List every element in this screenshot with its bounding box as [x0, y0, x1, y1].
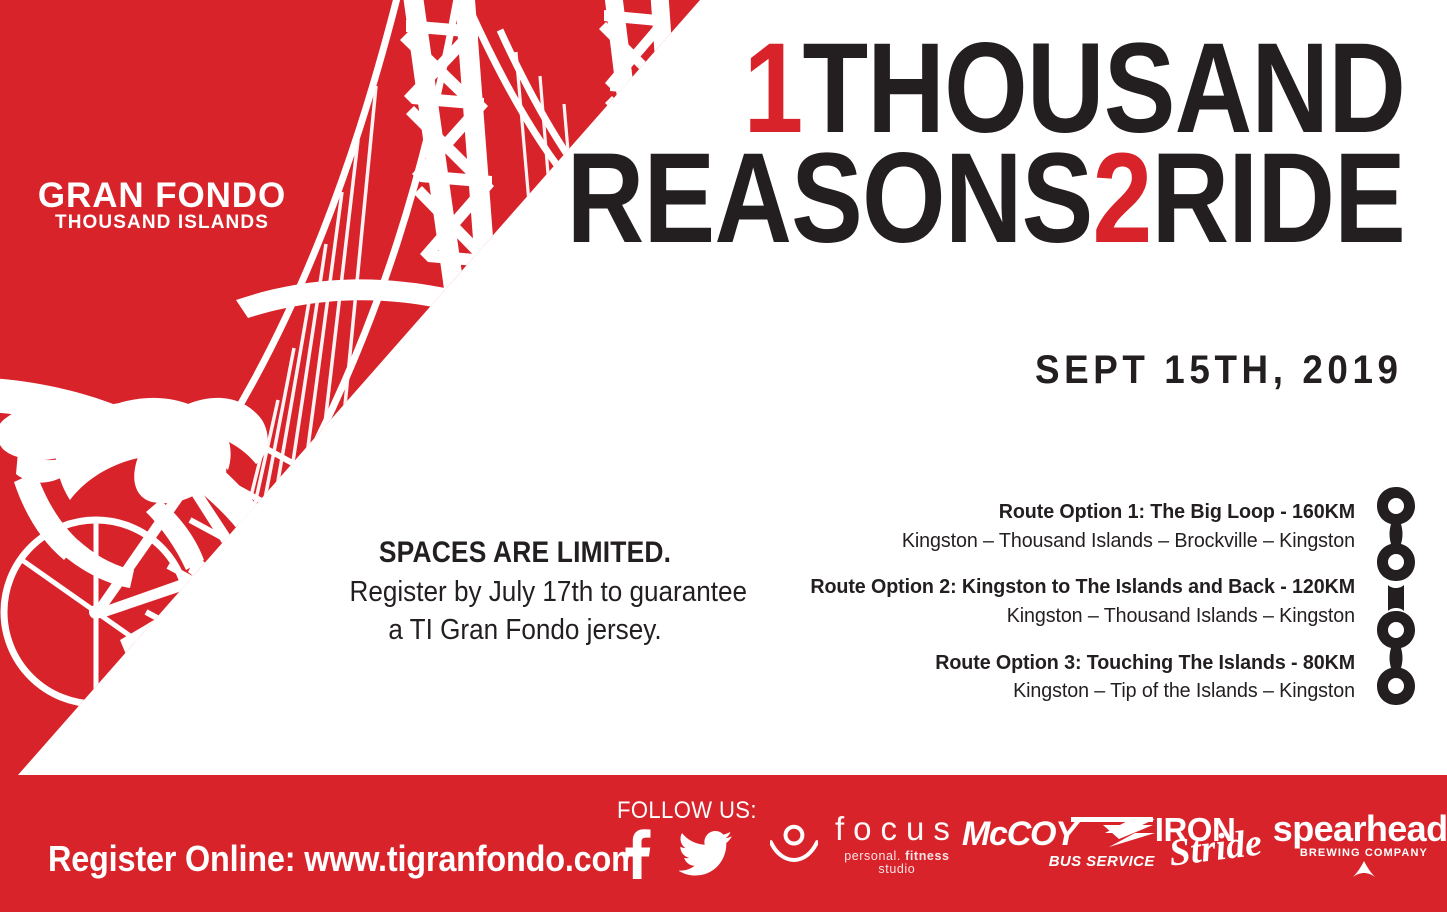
- spaces-limited-heading: SPACES ARE LIMITED.: [353, 533, 696, 573]
- spaces-limited-block: SPACES ARE LIMITED. Register by July 17t…: [330, 533, 720, 649]
- footer-bar: Register Online: www.tigranfondo.com FOL…: [0, 775, 1447, 912]
- sponsor-mccoy[interactable]: McCOY BUS SERVICE: [962, 817, 1155, 870]
- sponsor-spearhead[interactable]: spearhead® BREWING COMPANY: [1273, 811, 1447, 877]
- event-date: SEPT 15TH, 2019: [1035, 348, 1403, 393]
- register-online-text[interactable]: Register Online: www.tigranfondo.com: [48, 838, 640, 880]
- route-option-2-description: Kingston – Thousand Islands – Kingston: [779, 601, 1355, 631]
- route-option-3: Route Option 3: Touching The Islands - 8…: [755, 649, 1355, 706]
- headline: 1THOUSAND REASONS2RIDE: [407, 34, 1405, 254]
- twitter-icon[interactable]: [679, 830, 733, 876]
- sponsor-iron-stride[interactable]: IRON Stride: [1155, 813, 1273, 875]
- spaces-limited-line-3: a TI Gran Fondo jersey.: [350, 611, 701, 649]
- sponsor-focus-name: focus: [832, 812, 962, 845]
- facebook-icon[interactable]: [619, 827, 653, 879]
- spaces-limited-line-2: Register by July 17th to guarantee: [350, 573, 701, 611]
- sponsor-mccoy-sub: BUS SERVICE: [962, 853, 1155, 870]
- cyclist-illustration: [0, 378, 268, 704]
- focus-smile-icon: [770, 824, 818, 864]
- route-option-1-title: Route Option 1: The Big Loop - 160KM: [779, 498, 1355, 526]
- route-options-list: Route Option 1: The Big Loop - 160KM Kin…: [755, 498, 1355, 706]
- poster: GRAN FONDO THOUSAND ISLANDS 1THOUSAND RE…: [0, 0, 1447, 912]
- sponsor-logos: focus personal. fitness studio McCOY: [770, 775, 1447, 912]
- headline-line-2: REASONS2RIDE: [567, 144, 1405, 254]
- route-option-3-title: Route Option 3: Touching The Islands - 8…: [779, 649, 1355, 677]
- headline-2-dark-b: RIDE: [1151, 127, 1405, 270]
- logo-main-text: GRAN FONDO: [38, 176, 286, 215]
- follow-us-label: FOLLOW US:: [617, 797, 757, 825]
- sponsor-stride-script: Stride: [1167, 823, 1264, 872]
- route-option-2-title: Route Option 2: Kingston to The Islands …: [779, 573, 1355, 601]
- route-option-3-description: Kingston – Tip of the Islands – Kingston: [779, 676, 1355, 706]
- spearhead-arrow-icon: [1352, 861, 1376, 877]
- event-logo: GRAN FONDO THOUSAND ISLANDS: [32, 178, 292, 233]
- bicycle-chain-icon: [1370, 485, 1422, 707]
- social-links: [619, 827, 733, 879]
- logo-sub-text: THOUSAND ISLANDS: [55, 212, 269, 233]
- sponsor-focus[interactable]: focus personal. fitness studio: [770, 812, 962, 875]
- route-option-1-description: Kingston – Thousand Islands – Brockville…: [779, 526, 1355, 556]
- headline-2-red: 2: [1093, 127, 1152, 270]
- mccoy-arrow-icon: [1069, 817, 1155, 847]
- headline-2-dark-a: REASONS: [567, 127, 1093, 270]
- route-option-1: Route Option 1: The Big Loop - 160KM Kin…: [755, 498, 1355, 555]
- sponsor-mccoy-name: McCOY: [962, 817, 1077, 851]
- sponsor-spearhead-name: spearhead®: [1273, 811, 1447, 847]
- sponsor-spearhead-sub: BREWING COMPANY: [1273, 848, 1447, 859]
- route-option-2: Route Option 2: Kingston to The Islands …: [755, 573, 1355, 630]
- sponsor-focus-tagline: personal. fitness studio: [832, 850, 962, 875]
